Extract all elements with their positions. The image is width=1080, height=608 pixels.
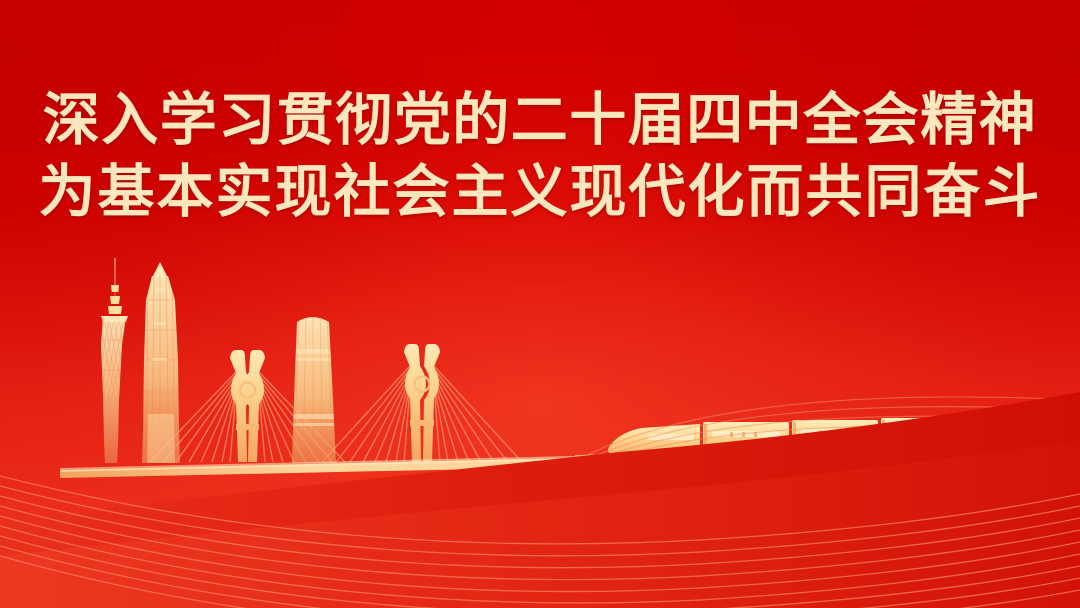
foreground-layer: [0, 0, 1080, 608]
poster-root: 深入学习贯彻党的二十届四中全会精神 为基本实现社会主义现代化而共同奋斗: [0, 0, 1080, 608]
